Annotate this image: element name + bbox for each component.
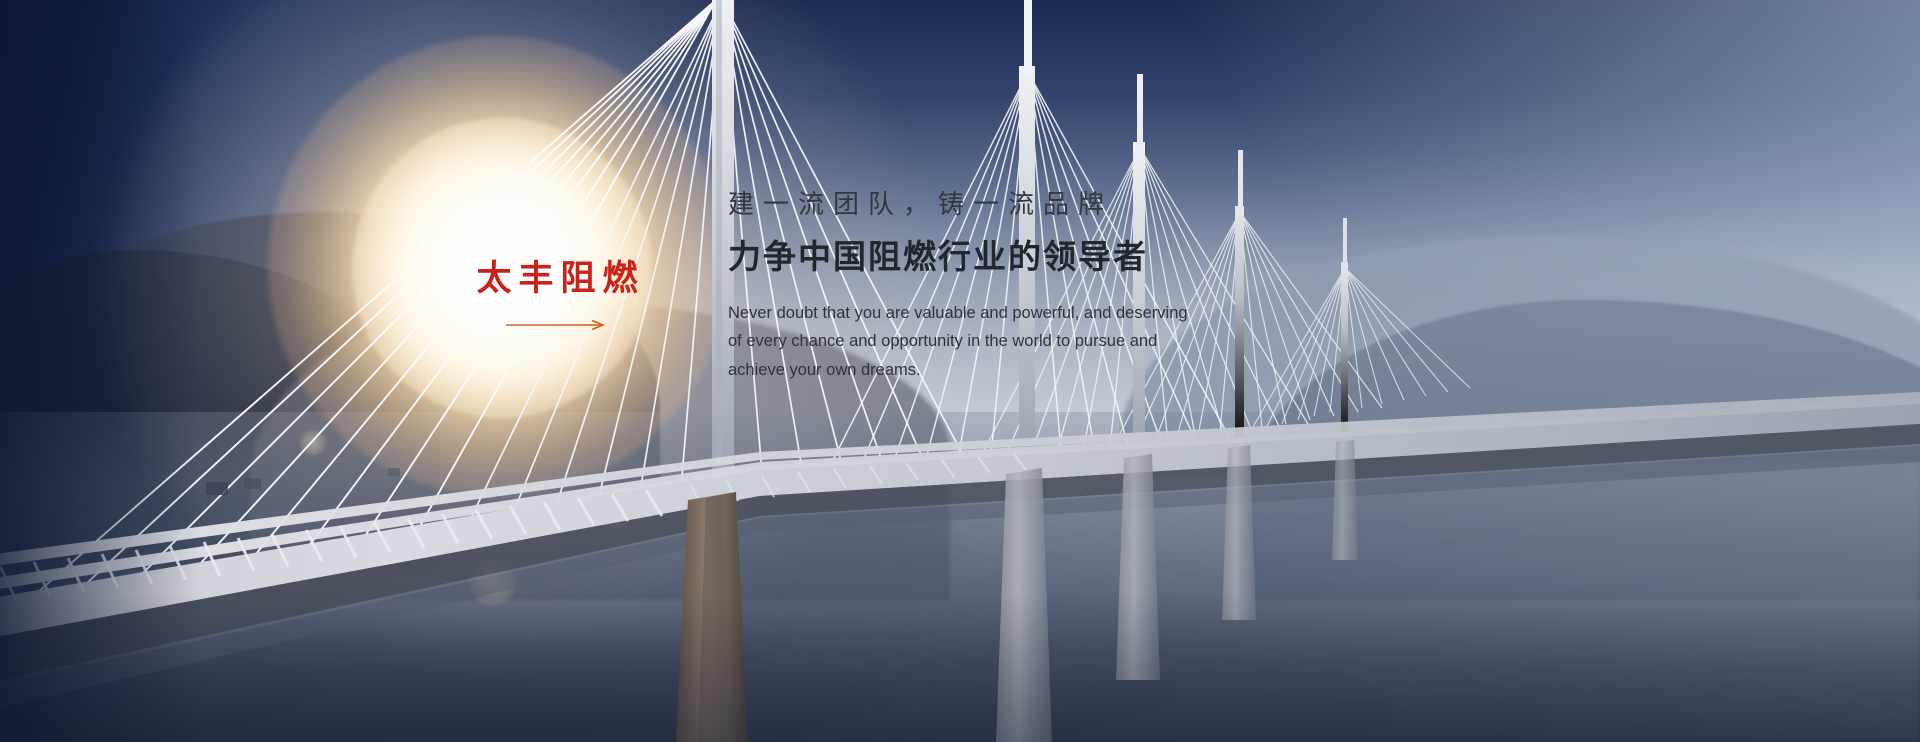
headline-secondary: 力争中国阻燃行业的领导者 (728, 237, 1188, 277)
banner-content: 太丰阻燃 建一流团队，铸一流品牌 力争中国阻燃行业的领导者 Never doub… (0, 0, 1920, 742)
paragraph-line-2: of every chance and opportunity in the w… (728, 327, 1188, 355)
brand-logo[interactable]: 太丰阻燃 (462, 262, 652, 331)
headline-primary: 建一流团队，铸一流品牌 (728, 190, 1188, 221)
right-arrow-icon (506, 319, 610, 331)
banner-text-block: 建一流团队，铸一流品牌 力争中国阻燃行业的领导者 Never doubt tha… (728, 190, 1188, 384)
hero-banner: 太丰阻燃 建一流团队，铸一流品牌 力争中国阻燃行业的领导者 Never doub… (0, 0, 1920, 742)
brand-logo-text: 太丰阻燃 (462, 262, 652, 297)
brand-logo-arrow (462, 319, 652, 331)
paragraph-line-1: Never doubt that you are valuable and po… (728, 299, 1188, 327)
paragraph-line-3: achieve your own dreams. (728, 356, 1188, 384)
banner-paragraph: Never doubt that you are valuable and po… (728, 299, 1188, 384)
